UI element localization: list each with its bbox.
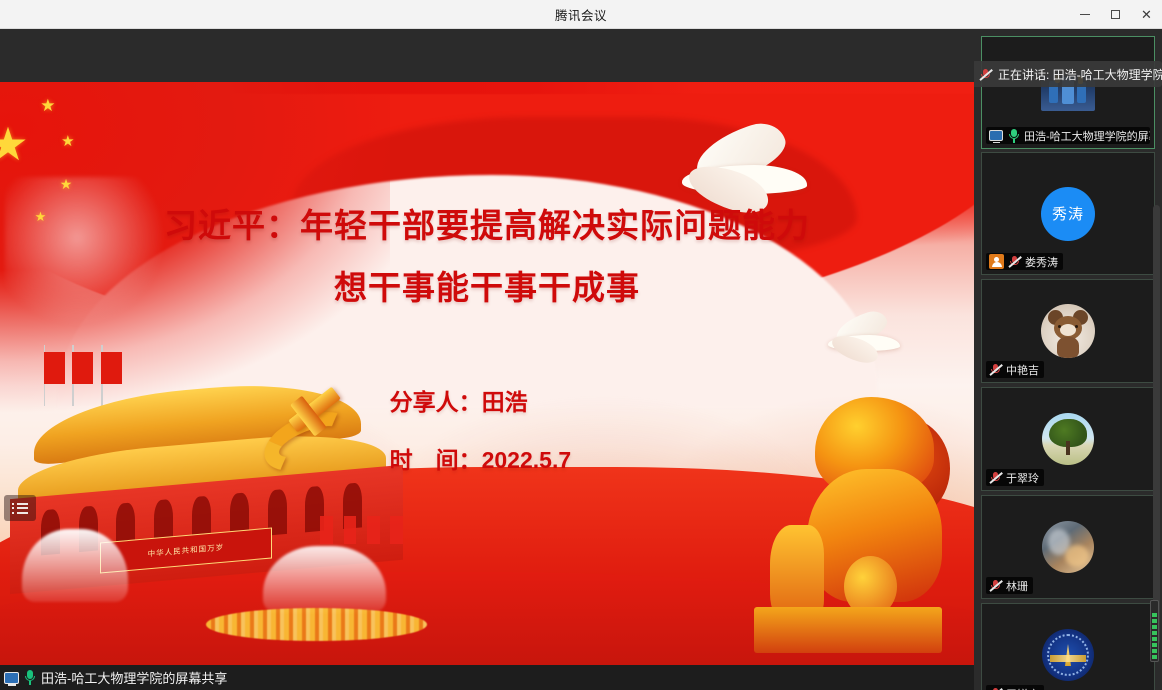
flag-star-small-1: ★	[40, 97, 55, 114]
microphone-muted-icon	[989, 363, 1002, 376]
participant-name-3: 于翠玲	[1006, 470, 1039, 486]
participant-name-1: 娄秀涛	[1025, 254, 1058, 270]
meeting-content: ★ ★ ★ ★ ★	[0, 29, 1162, 690]
window-titlebar: 腾讯会议 ✕	[0, 0, 1162, 29]
window-title: 腾讯会议	[555, 5, 607, 24]
audio-level-meter	[1150, 600, 1159, 662]
share-status-label: 田浩-哈工大物理学院的屏幕共享	[41, 668, 227, 687]
host-badge-icon	[989, 254, 1004, 269]
speaking-indicator-text: 正在讲话: 田浩-哈工大物理学院	[998, 66, 1162, 83]
list-icon[interactable]	[4, 495, 36, 521]
slide-title-line2: 想干事能干事干成事	[0, 266, 974, 310]
hammer-and-sickle-icon	[258, 391, 360, 479]
flag-star-small-3: ★	[60, 177, 73, 191]
close-icon: ✕	[1141, 8, 1152, 21]
participant-footer-3: 于翠玲	[986, 469, 1044, 486]
microphone-muted-icon	[979, 68, 992, 81]
list-lines	[12, 500, 28, 516]
microphone-muted-icon	[1008, 255, 1021, 268]
participant-tile-0[interactable]: 田浩-哈工大物理学院的屏幕...	[981, 36, 1155, 149]
shared-screen-stage[interactable]: ★ ★ ★ ★ ★	[0, 29, 974, 665]
participant-footer-2: 中艳吉	[986, 361, 1044, 378]
participant-footer-1: 娄秀涛	[986, 253, 1063, 270]
slide-presenter: 分享人：田浩	[390, 385, 528, 420]
window-controls: ✕	[1069, 0, 1162, 29]
presentation-slide: ★ ★ ★ ★ ★	[0, 82, 974, 665]
close-button[interactable]: ✕	[1131, 0, 1162, 29]
speaking-indicator-toast: 正在讲话: 田浩-哈工大物理学院	[974, 61, 1162, 87]
participant-footer-4: 林珊	[986, 577, 1033, 594]
participant-avatar-emblem	[1042, 629, 1094, 681]
participant-name-5: 于锐庆	[1006, 686, 1039, 690]
participant-strip[interactable]: 田浩-哈工大物理学院的屏幕... 秀涛 娄秀涛	[974, 29, 1162, 690]
participant-tile-4[interactable]: 林珊	[981, 495, 1155, 599]
minimize-icon	[1080, 14, 1090, 15]
microphone-on-icon	[24, 670, 36, 685]
flag-star-small-2: ★	[61, 134, 74, 149]
dove-icon-large	[682, 140, 807, 214]
screen-share-icon	[989, 130, 1003, 141]
participant-tile-1[interactable]: 秀涛 娄秀涛	[981, 152, 1155, 275]
flag-star-large: ★	[0, 121, 29, 167]
participant-footer-0: 田浩-哈工大物理学院的屏幕...	[986, 127, 1150, 144]
microphone-muted-icon	[989, 579, 1002, 592]
microphone-on-icon	[1007, 129, 1020, 143]
maximize-icon	[1111, 10, 1120, 19]
minimize-button[interactable]	[1069, 0, 1100, 29]
participant-avatar-initials: 秀涛	[1041, 187, 1095, 241]
participant-tile-2[interactable]: 中艳吉	[981, 279, 1155, 383]
lion-pedestal	[754, 607, 942, 653]
tencent-meeting-window: 腾讯会议 ✕ ★ ★ ★ ★ ★	[0, 0, 1162, 690]
slide-title-line1: 习近平：年轻干部要提高解决实际问题能力	[0, 204, 974, 248]
microphone-muted-icon	[989, 471, 1002, 484]
participant-avatar-photo	[1042, 413, 1094, 465]
guardian-lion-statue	[750, 397, 955, 654]
maximize-button[interactable]	[1100, 0, 1131, 29]
participant-name-0: 田浩-哈工大物理学院的屏幕...	[1024, 128, 1150, 144]
participant-name-2: 中艳吉	[1006, 362, 1039, 378]
participant-name-4: 林珊	[1006, 578, 1028, 594]
participant-avatar-photo	[1041, 304, 1095, 358]
screen-share-icon	[4, 672, 19, 684]
flower-bed	[206, 608, 427, 642]
participant-avatar-photo	[1042, 521, 1094, 573]
participant-scrollbar[interactable]	[1153, 205, 1160, 645]
participant-footer-5: 于锐庆	[986, 685, 1044, 690]
share-status-bar: 田浩-哈工大物理学院的屏幕共享	[0, 665, 974, 690]
participant-tile-5[interactable]: 于锐庆	[981, 603, 1155, 690]
tiananmen-side-flags	[317, 507, 407, 552]
slide-date: 时 间：2022.5.7	[390, 443, 572, 478]
participant-tile-3[interactable]: 于翠玲	[981, 387, 1155, 491]
